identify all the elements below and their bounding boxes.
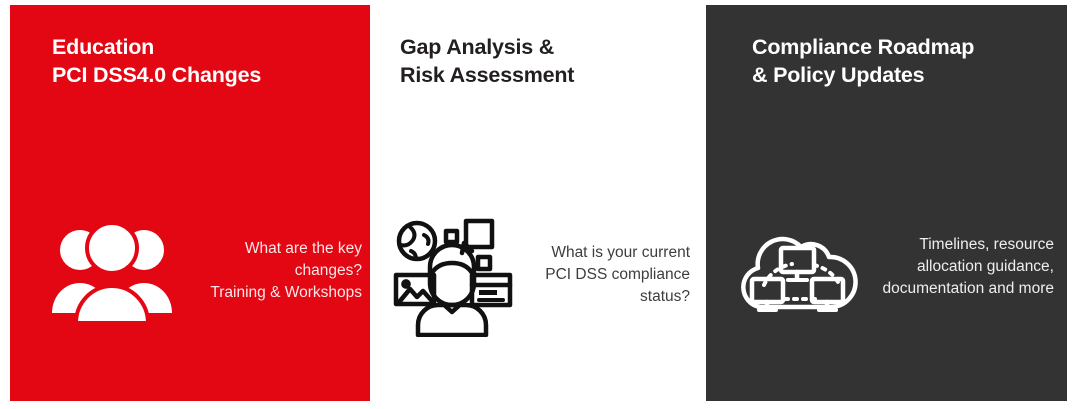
panel-compliance-roadmap-body: Timelines, resource allocation guidance,… xyxy=(734,215,1054,319)
panel-gap-analysis-text: What is your current PCI DSS compliance … xyxy=(514,242,690,308)
panel-education-text: What are the key changes? Training & Wor… xyxy=(174,238,362,304)
panel-compliance-roadmap: Compliance Roadmap & Policy Updates xyxy=(706,5,1067,401)
panel-education: Education PCI DSS4.0 Changes What are th… xyxy=(10,5,370,401)
panel-gap-analysis-body: What is your current PCI DSS compliance … xyxy=(390,213,690,337)
panel-education-body: What are the key changes? Training & Wor… xyxy=(50,217,362,325)
panel-education-title: Education PCI DSS4.0 Changes xyxy=(52,33,261,90)
panel-gap-analysis-title: Gap Analysis & Risk Assessment xyxy=(400,33,574,90)
infographic-three-panels: Education PCI DSS4.0 Changes What are th… xyxy=(0,0,1072,409)
panel-gap-analysis: Gap Analysis & Risk Assessment xyxy=(378,5,700,401)
panel-compliance-roadmap-text: Timelines, resource allocation guidance,… xyxy=(860,234,1054,300)
person-with-data-icon xyxy=(390,213,514,337)
group-of-people-icon xyxy=(50,217,174,325)
cloud-network-icon xyxy=(734,215,860,319)
panel-compliance-roadmap-title: Compliance Roadmap & Policy Updates xyxy=(752,33,974,90)
